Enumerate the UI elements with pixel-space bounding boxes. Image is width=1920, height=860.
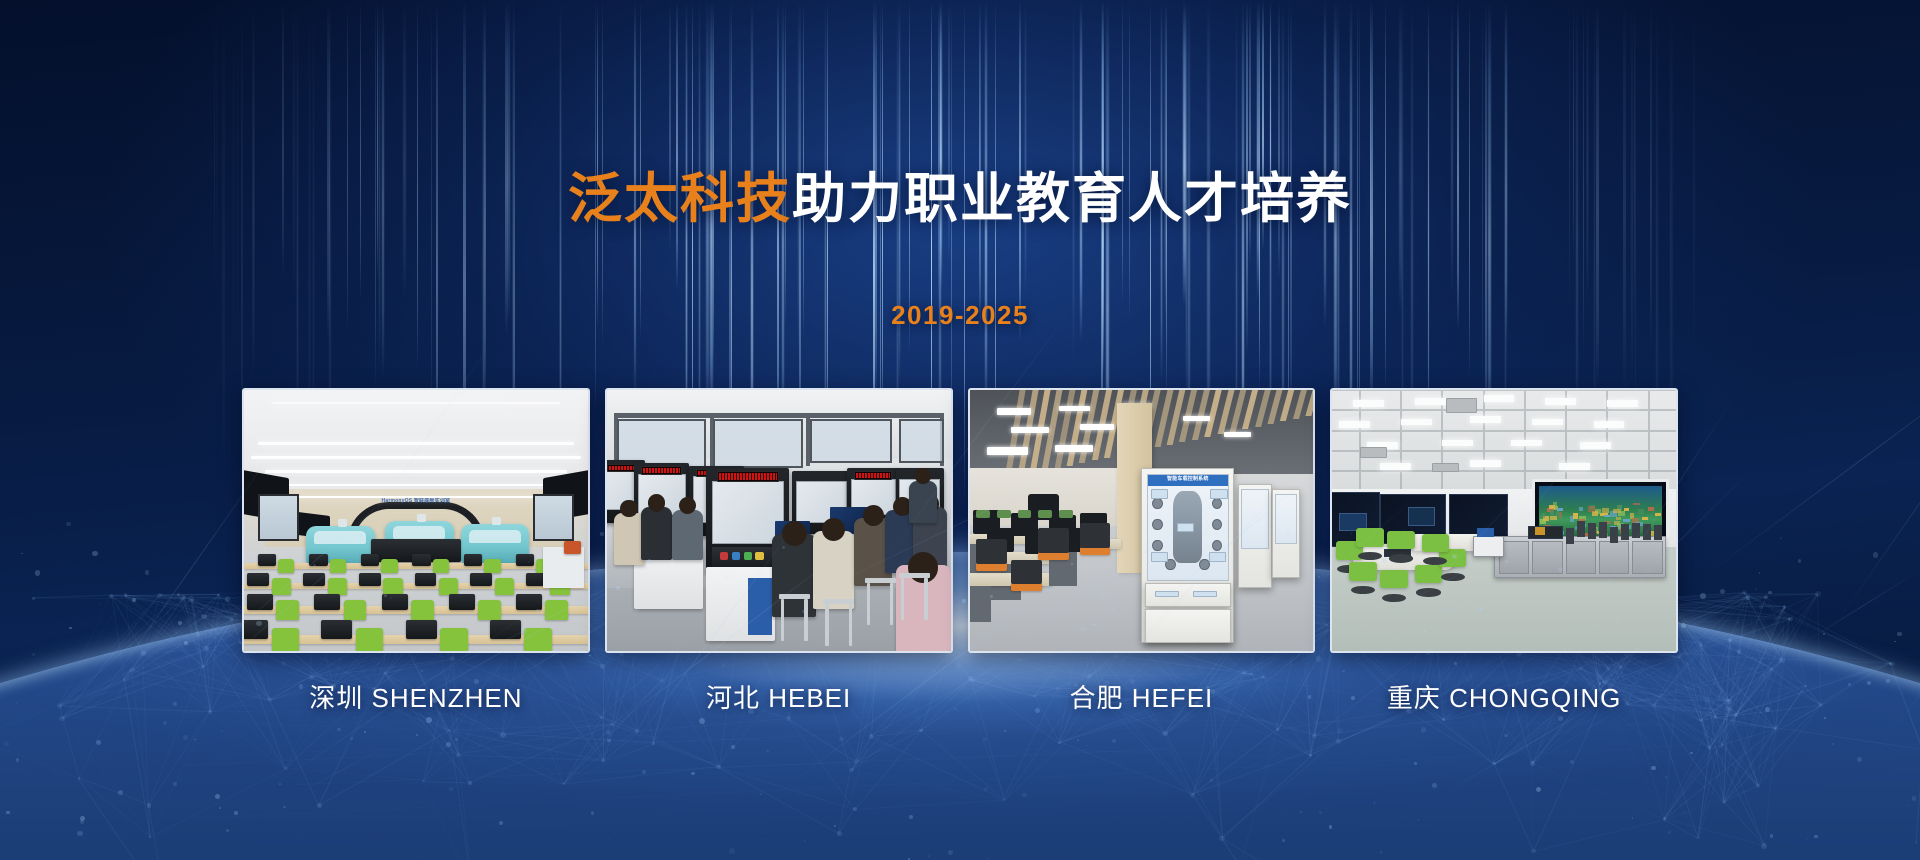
subtitle-year-range: 2019-2025	[0, 300, 1920, 331]
headline-rest: 助力职业教育人才培养	[792, 169, 1352, 229]
caption-chongqing: 重庆 CHONGQING	[1330, 678, 1678, 718]
photo-overlay-text-shenzhen: HarmonyOS 智联座舱实训室	[347, 497, 485, 504]
photo-card-hebei[interactable]	[605, 388, 953, 653]
photo-hefei: 智能车载控制系统	[970, 390, 1314, 651]
page-title: 泛太科技助力职业教育人才培养	[0, 172, 1920, 226]
caption-list: 深圳 SHENZHEN 河北 HEBEI 合肥 HEFEI 重庆 CHONGQI…	[242, 678, 1678, 718]
photo-card-chongqing[interactable]	[1330, 388, 1678, 653]
promo-banner: 泛太科技助力职业教育人才培养 2019-2025 HarmonyOS 智联座舱实…	[0, 0, 1920, 860]
photo-overlay-text-hefei: 智能车载控制系统	[1148, 475, 1229, 487]
photo-card-hefei[interactable]: 智能车载控制系统	[968, 388, 1316, 653]
headline-brand: 泛太科技	[568, 169, 792, 229]
photo-card-list: HarmonyOS 智联座舱实训室 智能车载控制系统	[242, 388, 1678, 653]
photo-hebei	[607, 390, 951, 651]
photo-chongqing	[1332, 390, 1676, 651]
